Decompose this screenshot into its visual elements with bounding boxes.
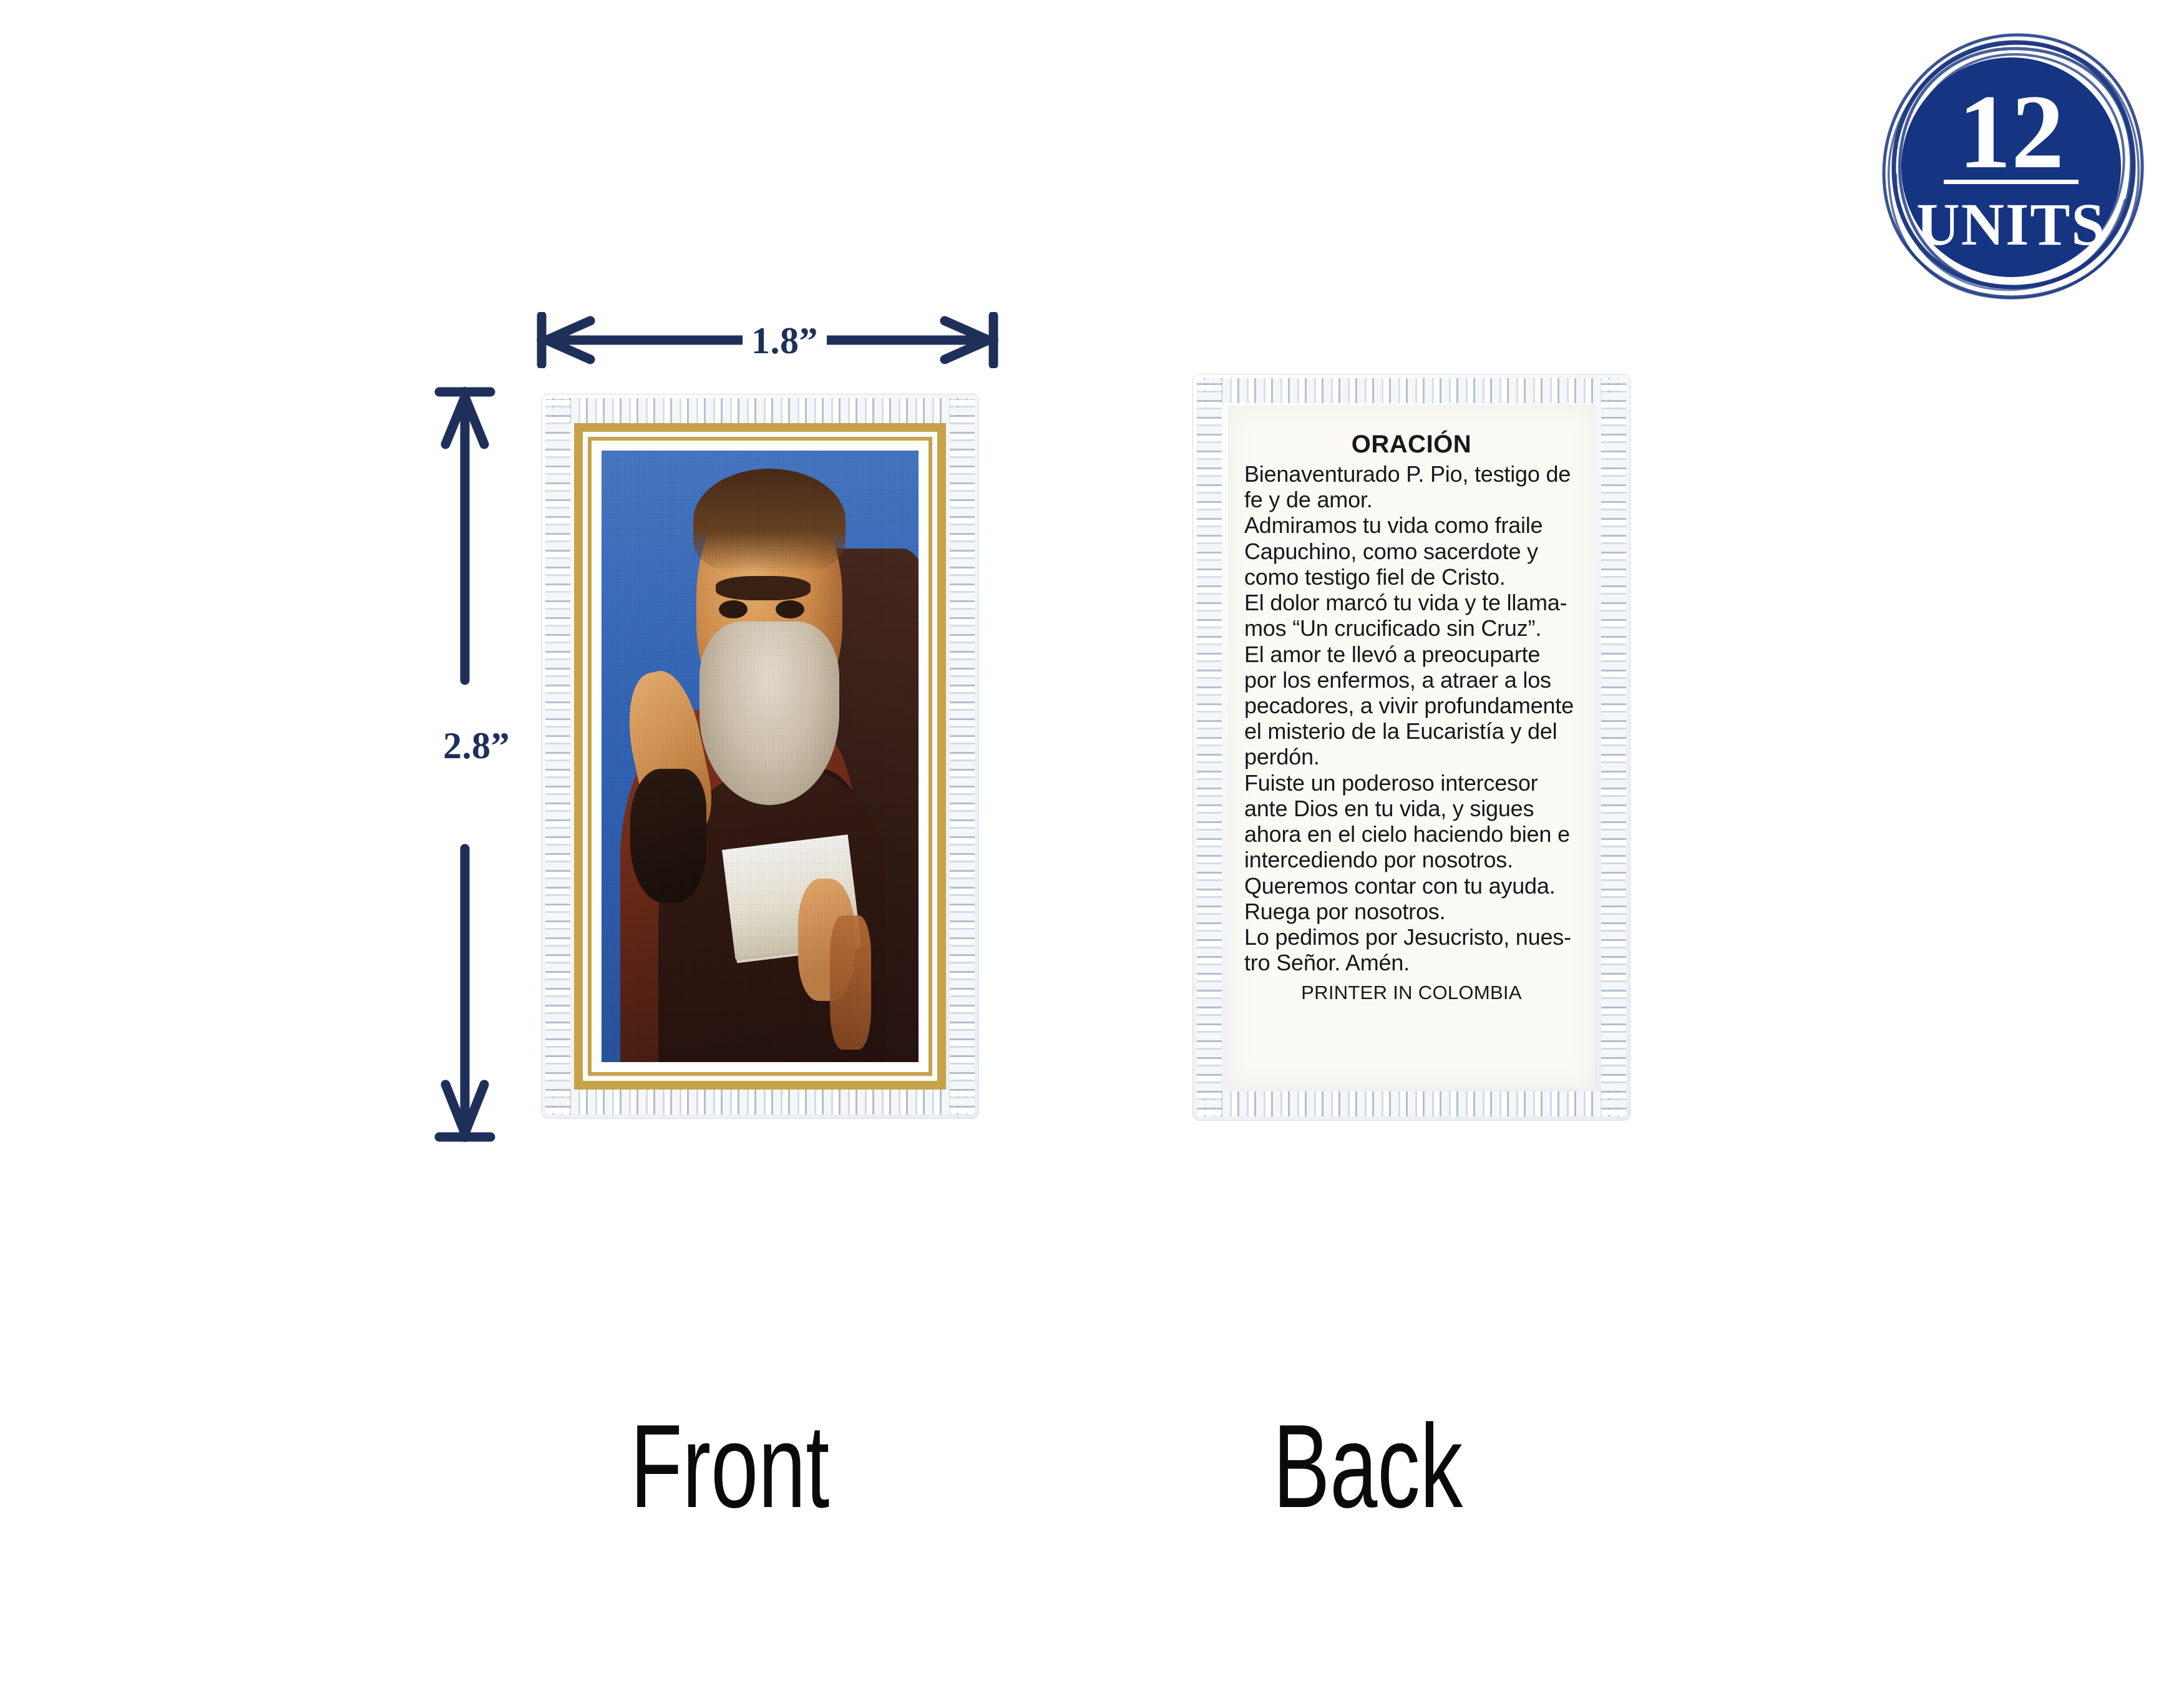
badge-count: 12 <box>1958 73 2064 190</box>
prayer-line: Ruega por nosotros. <box>1244 899 1579 924</box>
laminate-edge-left <box>1197 379 1222 1115</box>
prayer-line: ahora en el cielo haciendo bien e <box>1244 821 1579 847</box>
prayer-line: Bienaventurado P. Pio, testigo de <box>1244 461 1579 487</box>
prayer-line: el misterio de la Eucaristía y del <box>1244 718 1579 744</box>
front-card-gold-border <box>574 423 946 1090</box>
width-dimension-label: 1.8” <box>743 320 827 363</box>
prayer-line: como testigo fiel de Cristo. <box>1244 564 1579 590</box>
laminate-edge-right <box>1601 379 1626 1115</box>
badge-unit-label: UNITS <box>1916 191 2105 258</box>
front-card <box>542 394 978 1118</box>
prayer-line: tro Señor. Amén. <box>1244 950 1579 975</box>
prayer-title: ORACIÓN <box>1244 431 1579 459</box>
padre-pio-photo <box>602 451 919 1062</box>
back-card: ORACIÓN Bienaventurado P. Pio, testigo d… <box>1193 374 1630 1120</box>
prayer-line: perdón. <box>1244 744 1579 769</box>
printer-credit: PRINTER IN COLOMBIA <box>1244 982 1579 1004</box>
prayer-line: Admiramos tu vida como fraile <box>1244 512 1579 538</box>
prayer-line: El amor te llevó a preocuparte <box>1244 642 1579 667</box>
laminate-edge-bottom <box>1198 1091 1625 1116</box>
caption-back: Back <box>1273 1407 1463 1526</box>
height-dimension-label: 2.8” <box>437 721 516 771</box>
laminate-edge-left <box>545 399 570 1113</box>
caption-front: Front <box>630 1407 829 1526</box>
prayer-line: Queremos contar con tu ayuda. <box>1244 873 1579 899</box>
prayer-line: Fuiste un poderoso intercesor <box>1244 770 1579 796</box>
laminate-edge-bottom <box>547 1090 973 1115</box>
units-badge: 12 UNITS <box>1856 12 2162 318</box>
product-image-canvas: 12 UNITS 1.8” <box>0 0 2184 1688</box>
prayer-line: pecadores, a vivir profundamente <box>1244 693 1579 718</box>
laminate-edge-right <box>950 399 975 1113</box>
prayer-card-paper: ORACIÓN Bienaventurado P. Pio, testigo d… <box>1228 406 1595 1089</box>
prayer-line: Capuchino, como sacerdote y <box>1244 539 1579 564</box>
laminate-edge-top <box>547 398 973 423</box>
prayer-line: ante Dios en tu vida, y sigues <box>1244 796 1579 821</box>
halftone-grain <box>602 451 919 1062</box>
prayer-line: fe y de amor. <box>1244 487 1579 512</box>
prayer-line: El dolor marcó tu vida y te llama- <box>1244 590 1579 615</box>
laminate-edge-top <box>1198 378 1625 403</box>
prayer-line: mos “Un crucificado sin Cruz”. <box>1244 615 1579 641</box>
prayer-line: por los enfermos, a atraer a los <box>1244 667 1579 693</box>
prayer-text-block: ORACIÓN Bienaventurado P. Pio, testigo d… <box>1228 406 1595 1004</box>
prayer-line: Lo pedimos por Jesucristo, nues- <box>1244 924 1579 950</box>
prayer-line: intercediendo por nosotros. <box>1244 847 1579 872</box>
